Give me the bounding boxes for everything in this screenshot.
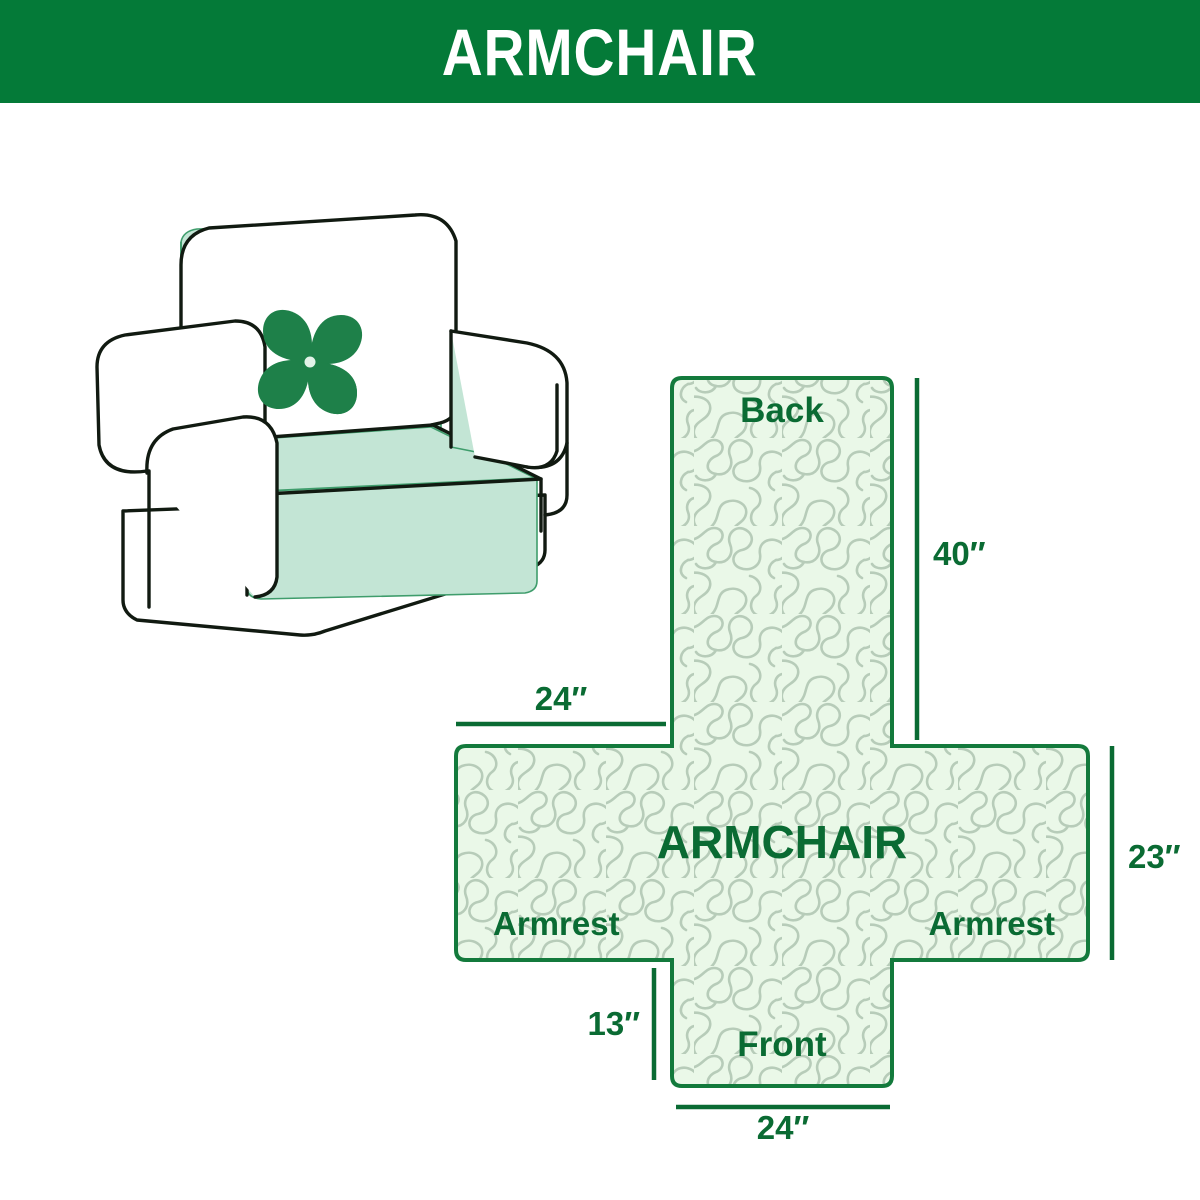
dimension-back-width: 24″ <box>456 680 666 724</box>
dimension-center-height-value: 23″ <box>1128 838 1181 875</box>
dimension-center-height: 23″ <box>1112 746 1181 960</box>
dimension-front-width: 24″ <box>676 1107 890 1140</box>
dimension-back-height: 40″ <box>917 378 986 740</box>
page-title: ARMCHAIR <box>442 19 758 85</box>
label-armrest-right: Armrest <box>928 905 1055 942</box>
page-root: ARMCHAIR .ink { fill:none; stroke:#111a1… <box>0 0 1200 1200</box>
header-banner: ARMCHAIR <box>0 0 1200 103</box>
dimension-back-width-value: 24″ <box>535 680 588 717</box>
cover-outline <box>456 378 1088 1086</box>
dimension-back-height-value: 40″ <box>933 535 986 572</box>
dimension-front-height: 13″ <box>587 968 654 1080</box>
label-armrest-left: Armrest <box>493 905 620 942</box>
label-armchair-center: ARMCHAIR <box>657 816 907 868</box>
dimension-front-width-value: 24″ <box>757 1109 810 1140</box>
cover-pattern-diagram: Back ARMCHAIR Armrest Armrest Front 40″ … <box>430 350 1200 1140</box>
dimension-front-height-value: 13″ <box>587 1005 640 1042</box>
label-front: Front <box>737 1025 827 1064</box>
label-back: Back <box>740 391 824 430</box>
